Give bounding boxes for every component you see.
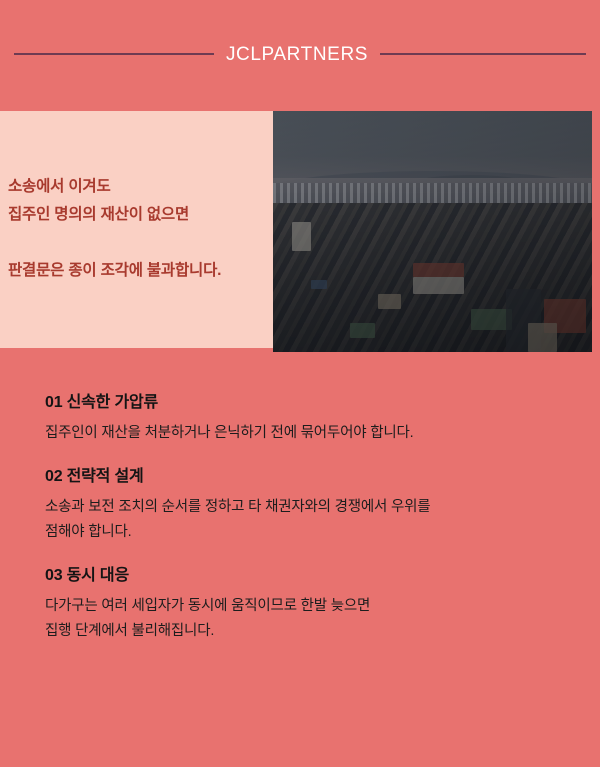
list-item: 03 동시 대응 다가구는 여러 세입자가 동시에 움직이므로 한발 늦으면 집… [45, 565, 555, 644]
photo-building-pale [413, 277, 464, 294]
photo-roof-green-2 [350, 323, 376, 337]
point-heading: 01 신속한 가압류 [45, 392, 555, 414]
brand-name: JCLPARTNERS [214, 45, 380, 64]
photo-building-tan-2 [378, 294, 400, 308]
point-heading: 03 동시 대응 [45, 565, 555, 587]
photo-roof-red [413, 263, 464, 277]
point-body: 소송과 보전 조치의 순서를 정하고 타 채권자와의 경쟁에서 우위를 점해야 … [45, 495, 555, 545]
point-heading: 02 전략적 설계 [45, 466, 555, 488]
brand-rule-right [380, 53, 586, 55]
points-list: 01 신속한 가압류 집주인이 재산을 처분하거나 은닉하기 전에 묶어두어야 … [45, 392, 555, 664]
photo-building-tan [528, 323, 557, 352]
list-item: 01 신속한 가압류 집주인이 재산을 처분하거나 은닉하기 전에 묶어두어야 … [45, 392, 555, 446]
brand-rule-left [14, 53, 214, 55]
point-body: 집주인이 재산을 처분하거나 은닉하기 전에 묶어두어야 합니다. [45, 421, 555, 446]
hero-section: 소송에서 이겨도 집주인 명의의 재산이 없으면 판결문은 종이 조각에 불과합… [0, 111, 600, 352]
slide-card: JCLPARTNERS 소송에서 이겨도 집주인 명의의 재산이 없으면 판결문… [0, 0, 600, 767]
hero-headline: 소송에서 이겨도 집주인 명의의 재산이 없으면 판결문은 종이 조각에 불과합… [8, 173, 338, 285]
list-item: 02 전략적 설계 소송과 보전 조치의 순서를 정하고 타 채권자와의 경쟁에… [45, 466, 555, 545]
point-body: 다가구는 여러 세입자가 동시에 움직이므로 한발 늦으면 집행 단계에서 불리… [45, 594, 555, 644]
brand-header: JCLPARTNERS [0, 38, 600, 70]
